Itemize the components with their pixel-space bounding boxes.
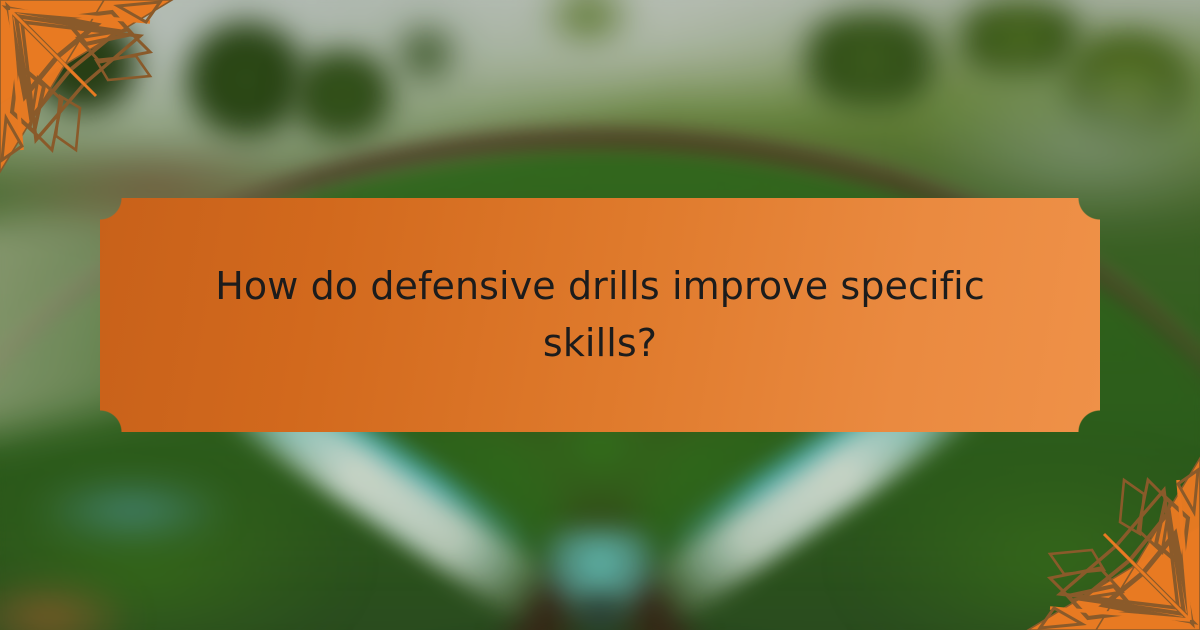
page-title: How do defensive drills improve specific… [100, 258, 1100, 372]
quote-card: How do defensive drills improve specific… [100, 198, 1100, 432]
poster-canvas: How do defensive drills improve specific… [0, 0, 1200, 630]
